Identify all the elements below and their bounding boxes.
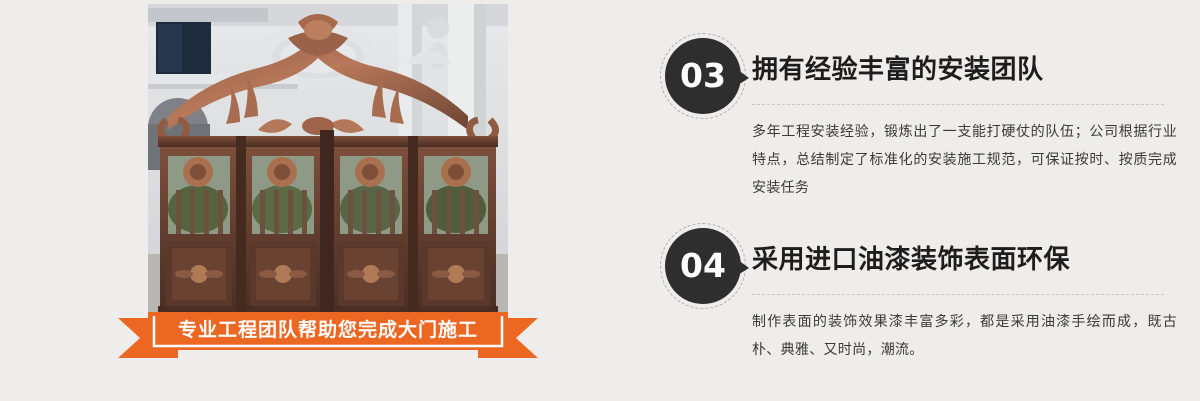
feature-title-04: 采用进口油漆装饰表面环保: [752, 239, 1070, 276]
feature-number-04: 04: [665, 228, 741, 304]
ribbon-banner: 专业工程团队帮助您完成大门施工: [118, 310, 538, 360]
feature-badge-04: 04: [660, 223, 752, 315]
feature-body-03: 多年工程安装经验，锻炼出了一支能打硬仗的队伍；公司根据行业特点，总结制定了标准化…: [752, 118, 1177, 202]
gate-photo-image: [148, 4, 508, 318]
ribbon-label: 专业工程团队帮助您完成大门施工: [118, 310, 538, 350]
gate-photo: [148, 4, 508, 318]
feature-separator-03: [752, 104, 1164, 105]
feature-body-04: 制作表面的装饰效果漆丰富多彩，都是采用油漆手绘而成，既古朴、典雅、又时尚，潮流。: [752, 308, 1177, 364]
features-list: 03 拥有经验丰富的安装团队 多年工程安装经验，锻炼出了一支能打硬仗的队伍；公司…: [655, 0, 1185, 401]
feature-badge-03: 03: [660, 33, 752, 125]
feature-number-03: 03: [665, 38, 741, 114]
feature-title-03: 拥有经验丰富的安装团队: [752, 49, 1044, 86]
feature-separator-04: [752, 294, 1164, 295]
